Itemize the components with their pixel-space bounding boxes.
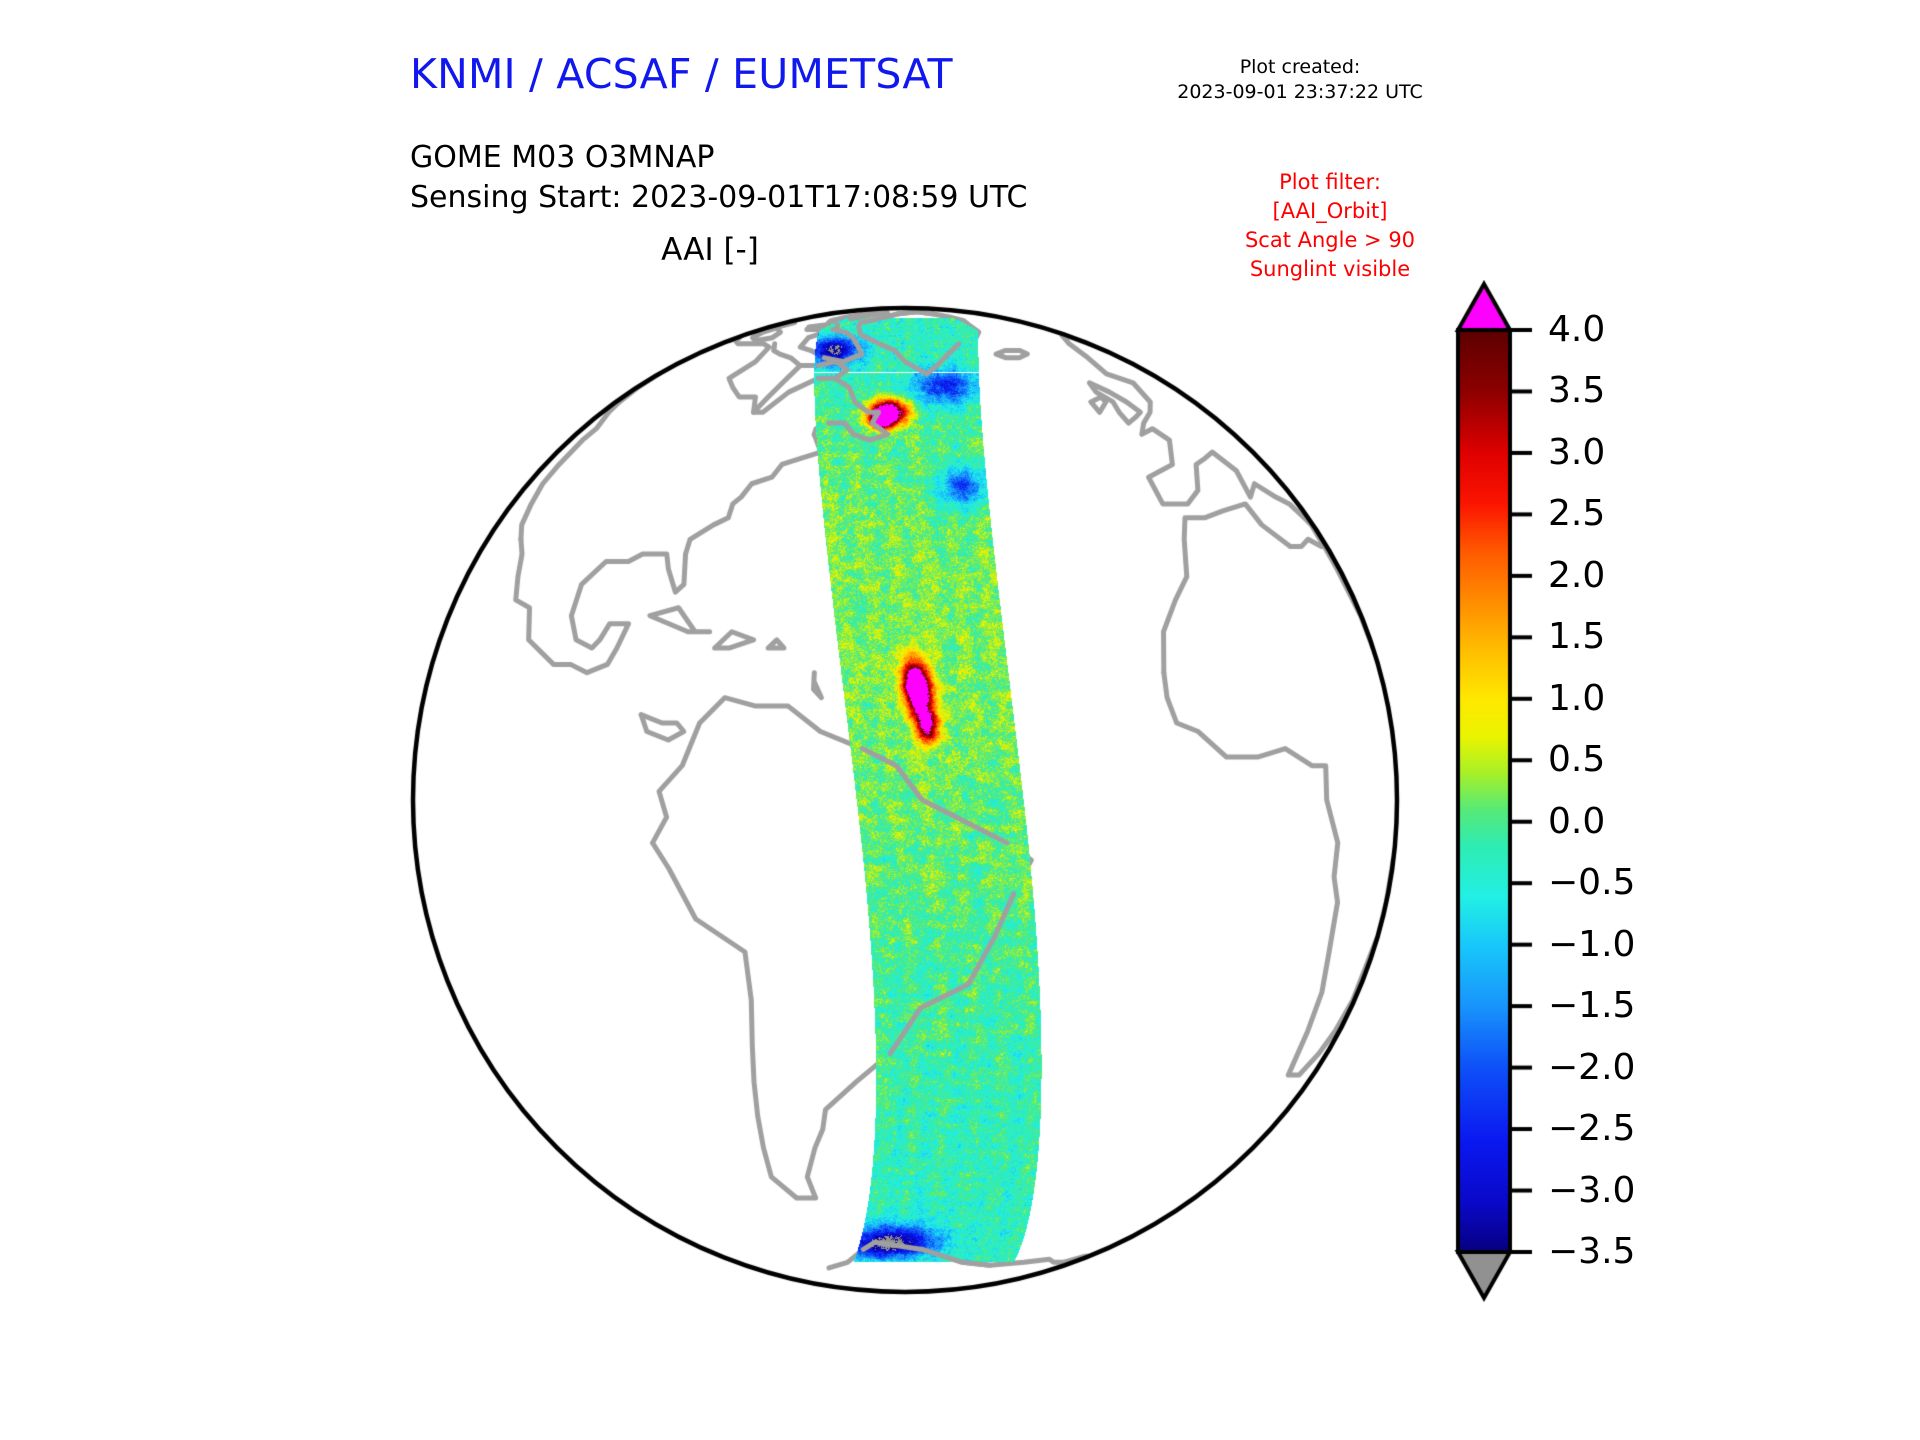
dataset-name: GOME M03 O3MNAP: [410, 138, 1027, 178]
colorbar-tick-label: −3.5: [1548, 1234, 1635, 1270]
colorbar-tick-label: 0.5: [1548, 742, 1605, 778]
colorbar-tick-label: 1.0: [1548, 681, 1605, 717]
colorbar-tick-labels: 4.03.53.02.52.01.51.00.50.0−0.5−1.0−1.5−…: [1548, 280, 1748, 1310]
plot-created-timestamp: 2023-09-01 23:37:22 UTC: [1150, 80, 1450, 105]
sensing-start: Sensing Start: 2023-09-01T17:08:59 UTC: [410, 178, 1027, 218]
plot-created-label: Plot created:: [1150, 55, 1450, 80]
plot-filter-line: [AAI_Orbit]: [1180, 197, 1480, 226]
plot-filter-line: Scat Angle > 90: [1180, 226, 1480, 255]
colorbar-tick-label: 2.5: [1548, 496, 1605, 532]
colorbar-tick-label: 0.0: [1548, 804, 1605, 840]
colorbar-tick-label: −1.5: [1548, 988, 1635, 1024]
plot-filter-title: Plot filter:: [1180, 168, 1480, 197]
globe-map-canvas: [390, 285, 1420, 1315]
colorbar-tick-label: 3.0: [1548, 435, 1605, 471]
plot-filter-block: Plot filter: [AAI_Orbit] Scat Angle > 90…: [1180, 168, 1480, 284]
colorbar-tick-label: 4.0: [1548, 312, 1605, 348]
colorbar-tick-label: −1.0: [1548, 927, 1635, 963]
colorbar-tick-label: 1.5: [1548, 619, 1605, 655]
colorbar-tick-label: −3.0: [1548, 1173, 1635, 1209]
colorbar-tick-label: 2.0: [1548, 558, 1605, 594]
plot-filter-line: Sunglint visible: [1180, 255, 1480, 284]
plot-page: KNMI / ACSAF / EUMETSAT Plot created: 20…: [0, 0, 1920, 1440]
organisation-title: KNMI / ACSAF / EUMETSAT: [410, 50, 953, 98]
globe-map: [390, 285, 1420, 1315]
colorbar-tick-label: −2.5: [1548, 1111, 1635, 1147]
colorbar-tick-label: −0.5: [1548, 865, 1635, 901]
colorbar: 4.03.53.02.52.01.51.00.50.0−0.5−1.0−1.5−…: [1440, 280, 1860, 1310]
colorbar-tick-label: 3.5: [1548, 373, 1605, 409]
plot-created-block: Plot created: 2023-09-01 23:37:22 UTC: [1150, 55, 1450, 105]
colorbar-tick-label: −2.0: [1548, 1050, 1635, 1086]
dataset-block: GOME M03 O3MNAP Sensing Start: 2023-09-0…: [410, 138, 1027, 218]
